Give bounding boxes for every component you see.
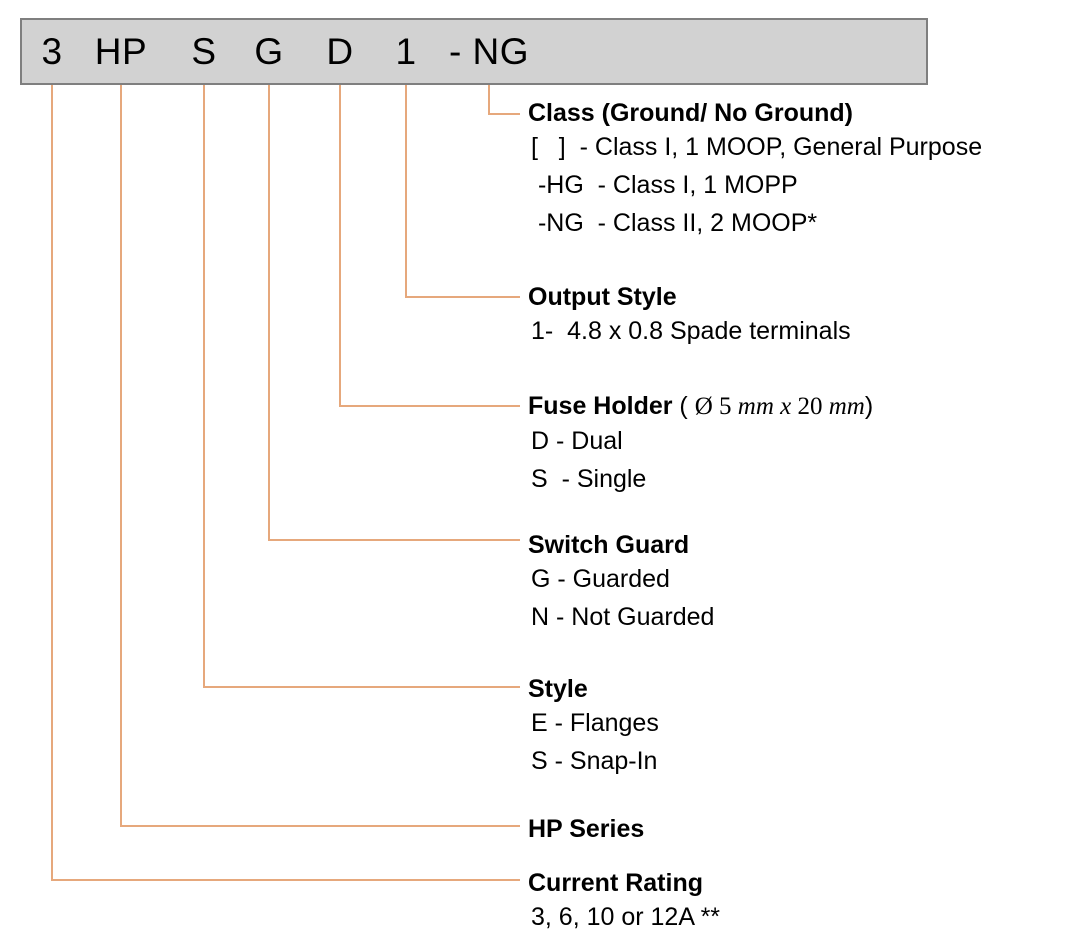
part-number-segment-hp-series: HP [88,20,154,83]
part-number-segment-switch-guard: G [243,20,295,83]
fuse-unit-first: mm x [738,393,798,420]
fuse-unit-second: mm [829,393,865,420]
callout-option-output-style-0: 1- 4.8 x 0.8 Spade terminals [531,312,851,350]
callout-title-class: Class (Ground/ No Ground) [528,98,982,128]
callout-title-text: Class (Ground/ No Ground) [528,99,853,127]
callout-title-text: Style [528,675,588,703]
leader-line-current-rating [52,85,520,880]
callout-option-fuse-holder-0: D - Dual [531,422,873,460]
callout-option-style-0: E - Flanges [531,704,659,742]
callout-option-style-1: S - Snap-In [531,742,659,780]
callout-output-style: Output Style1- 4.8 x 0.8 Spade terminals [528,282,851,350]
callout-option-class-1: -HG - Class I, 1 MOPP [531,166,982,204]
callout-option-current-rating-0: 3, 6, 10 or 12A ** [531,898,720,936]
callout-title-style: Style [528,674,659,704]
leader-line-fuse-holder [340,85,520,406]
callout-option-class-2: -NG - Class II, 2 MOOP* [531,204,982,242]
part-number-segment-current-rating: 3 [26,20,78,83]
callout-switch-guard: Switch GuardG - GuardedN - Not Guarded [528,530,714,636]
callout-fuse-holder: Fuse Holder ( Ø 5 mm x 20 mm)D - DualS -… [528,391,873,498]
callout-title-current-rating: Current Rating [528,868,720,898]
callout-title-text: HP Series [528,815,644,843]
callout-option-switch-guard-1: N - Not Guarded [531,598,714,636]
callout-title-fuse-holder: Fuse Holder ( Ø 5 mm x 20 mm) [528,391,873,422]
leader-line-switch-guard [269,85,520,540]
part-number-segment-output-style: 1 [380,20,432,83]
fuse-paren-close: ) [865,392,873,420]
callout-title-output-style: Output Style [528,282,851,312]
fuse-paren-open: ( [672,392,694,420]
callout-title-hp-series: HP Series [528,814,644,844]
callout-option-fuse-holder-1: S - Single [531,460,873,498]
callout-title-text: Output Style [528,283,677,311]
fuse-length-value: 20 [797,393,828,420]
leader-line-hp-series [121,85,520,826]
callout-option-switch-guard-0: G - Guarded [531,560,714,598]
leader-line-class [489,85,520,114]
callout-title-text: Switch Guard [528,531,689,559]
callout-hp-series: HP Series [528,814,644,844]
part-number-diagram: 3HPSGD1- NG Class (Ground/ No Ground)[ ]… [0,0,1080,947]
leader-line-output-style [406,85,520,297]
leader-line-style [204,85,520,687]
callout-title-text: Current Rating [528,869,703,897]
part-number-segment-class: - NG [440,20,538,83]
callout-title-switch-guard: Switch Guard [528,530,714,560]
callout-title-text: Fuse Holder [528,392,672,420]
callout-class: Class (Ground/ No Ground)[ ] - Class I, … [528,98,982,242]
callout-option-class-0: [ ] - Class I, 1 MOOP, General Purpose [531,128,982,166]
callout-current-rating: Current Rating3, 6, 10 or 12A ** [528,868,720,936]
part-number-segment-fuse-holder: D [314,20,366,83]
part-number-box: 3HPSGD1- NG [20,18,928,85]
fuse-diameter-value: Ø 5 [695,393,738,420]
callout-style: StyleE - FlangesS - Snap-In [528,674,659,780]
part-number-segment-style: S [178,20,230,83]
